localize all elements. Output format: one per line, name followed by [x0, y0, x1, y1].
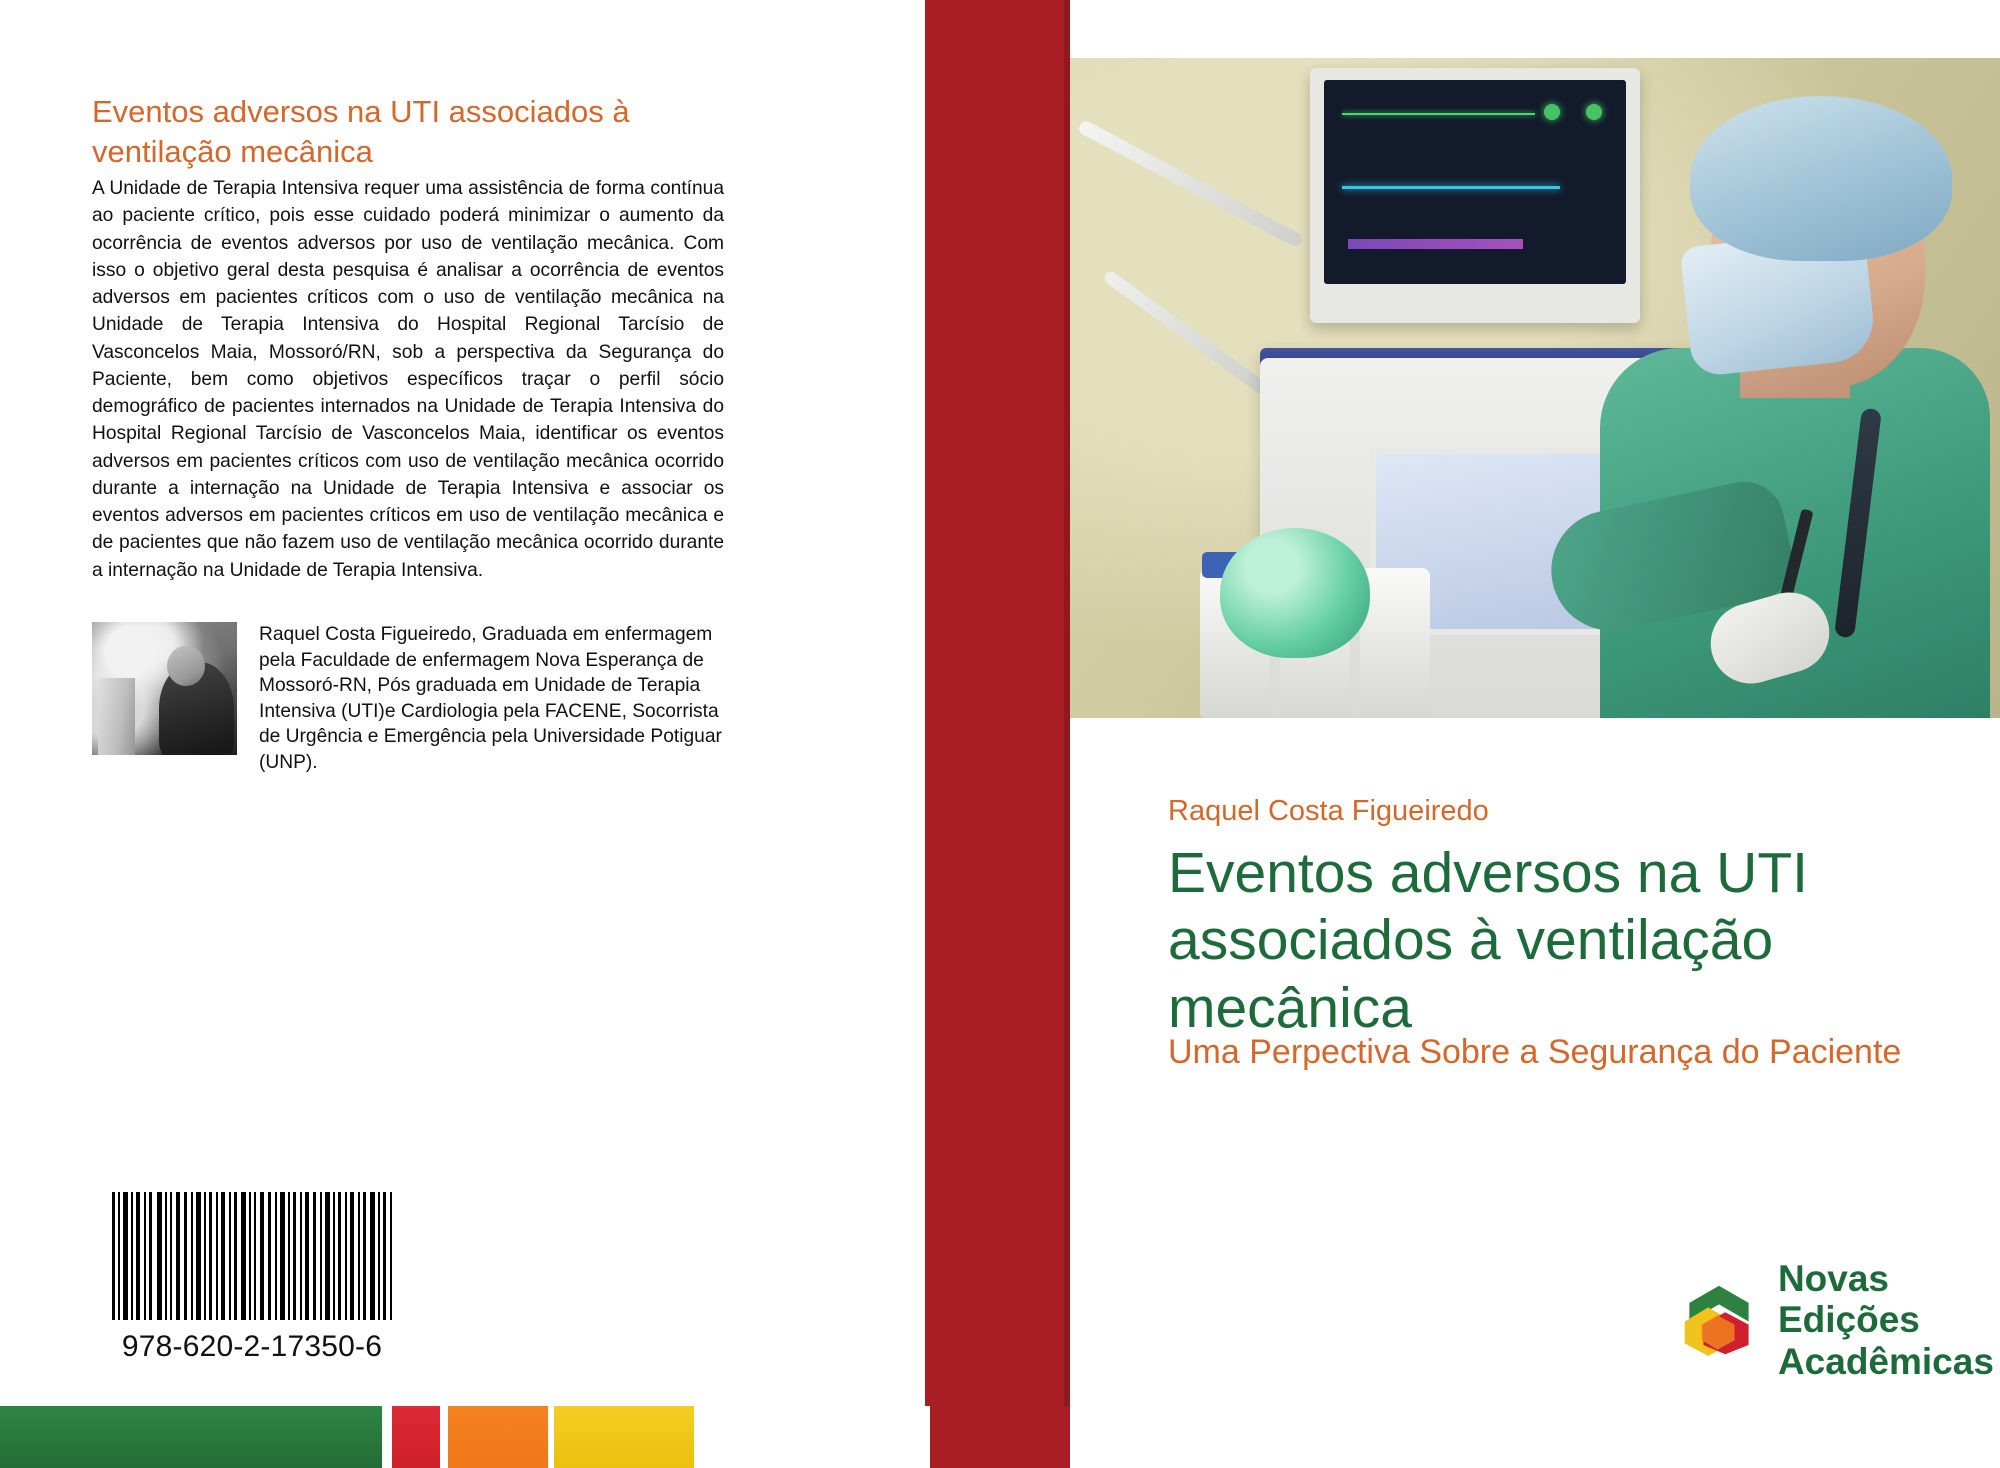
author-photo-head [167, 646, 205, 686]
photo-bottle-right [1360, 568, 1430, 718]
cover-photo-icu [1070, 58, 2000, 718]
publisher-block: Novas Edições Acadêmicas [1680, 1258, 2000, 1382]
front-cover: Raquel Costa Figueiredo Eventos adversos… [1070, 0, 2000, 1468]
bottom-bar-white-gap [694, 1406, 930, 1468]
isbn-number: 978-620-2-17350-6 [108, 1330, 396, 1364]
back-cover: Eventos adversos na UTI associados à ven… [0, 0, 925, 1468]
photo-nurse-surgical-cap [1690, 96, 1952, 261]
isbn-barcode [108, 1192, 396, 1320]
author-photo-column [98, 678, 136, 755]
photo-resuscitation-bag [1220, 528, 1370, 658]
bottom-bar-red-spine [930, 1406, 1070, 1468]
bottom-color-bar [0, 1406, 2000, 1468]
photo-ecg-trace [1342, 113, 1535, 115]
bottom-bar-yellow [554, 1406, 694, 1468]
photo-indicator-dot-1 [1544, 104, 1560, 120]
author-bio-text: Raquel Costa Figueiredo, Graduada em enf… [259, 622, 724, 775]
back-cover-title: Eventos adversos na UTI associados à ven… [92, 92, 752, 171]
barcode-area: 978-620-2-17350-6 [108, 1192, 408, 1364]
photo-readout-band [1348, 239, 1523, 249]
author-photo [92, 622, 237, 755]
publisher-name: Novas Edições Acadêmicas [1778, 1258, 2000, 1382]
publisher-logo-icon [1680, 1275, 1758, 1365]
photo-spo2-trace [1342, 186, 1559, 189]
bottom-bar-orange [448, 1406, 548, 1468]
bottom-bar-crimson [392, 1406, 440, 1468]
book-spine [925, 0, 1070, 1468]
book-cover: Eventos adversos na UTI associados à ven… [0, 0, 2000, 1468]
front-cover-author: Raquel Costa Figueiredo [1168, 795, 1489, 828]
author-block: Raquel Costa Figueiredo, Graduada em enf… [92, 622, 724, 775]
photo-monitor-screen [1324, 80, 1626, 284]
bottom-bar-white-right [1070, 1406, 2000, 1468]
back-cover-abstract: A Unidade de Terapia Intensiva requer um… [92, 175, 724, 584]
photo-nurse [1590, 78, 2000, 718]
front-cover-title: Eventos adversos na UTI associados à ven… [1168, 840, 1908, 1042]
bottom-bar-green [0, 1406, 382, 1468]
front-cover-subtitle: Uma Perpectiva Sobre a Segurança do Paci… [1168, 1030, 1908, 1074]
